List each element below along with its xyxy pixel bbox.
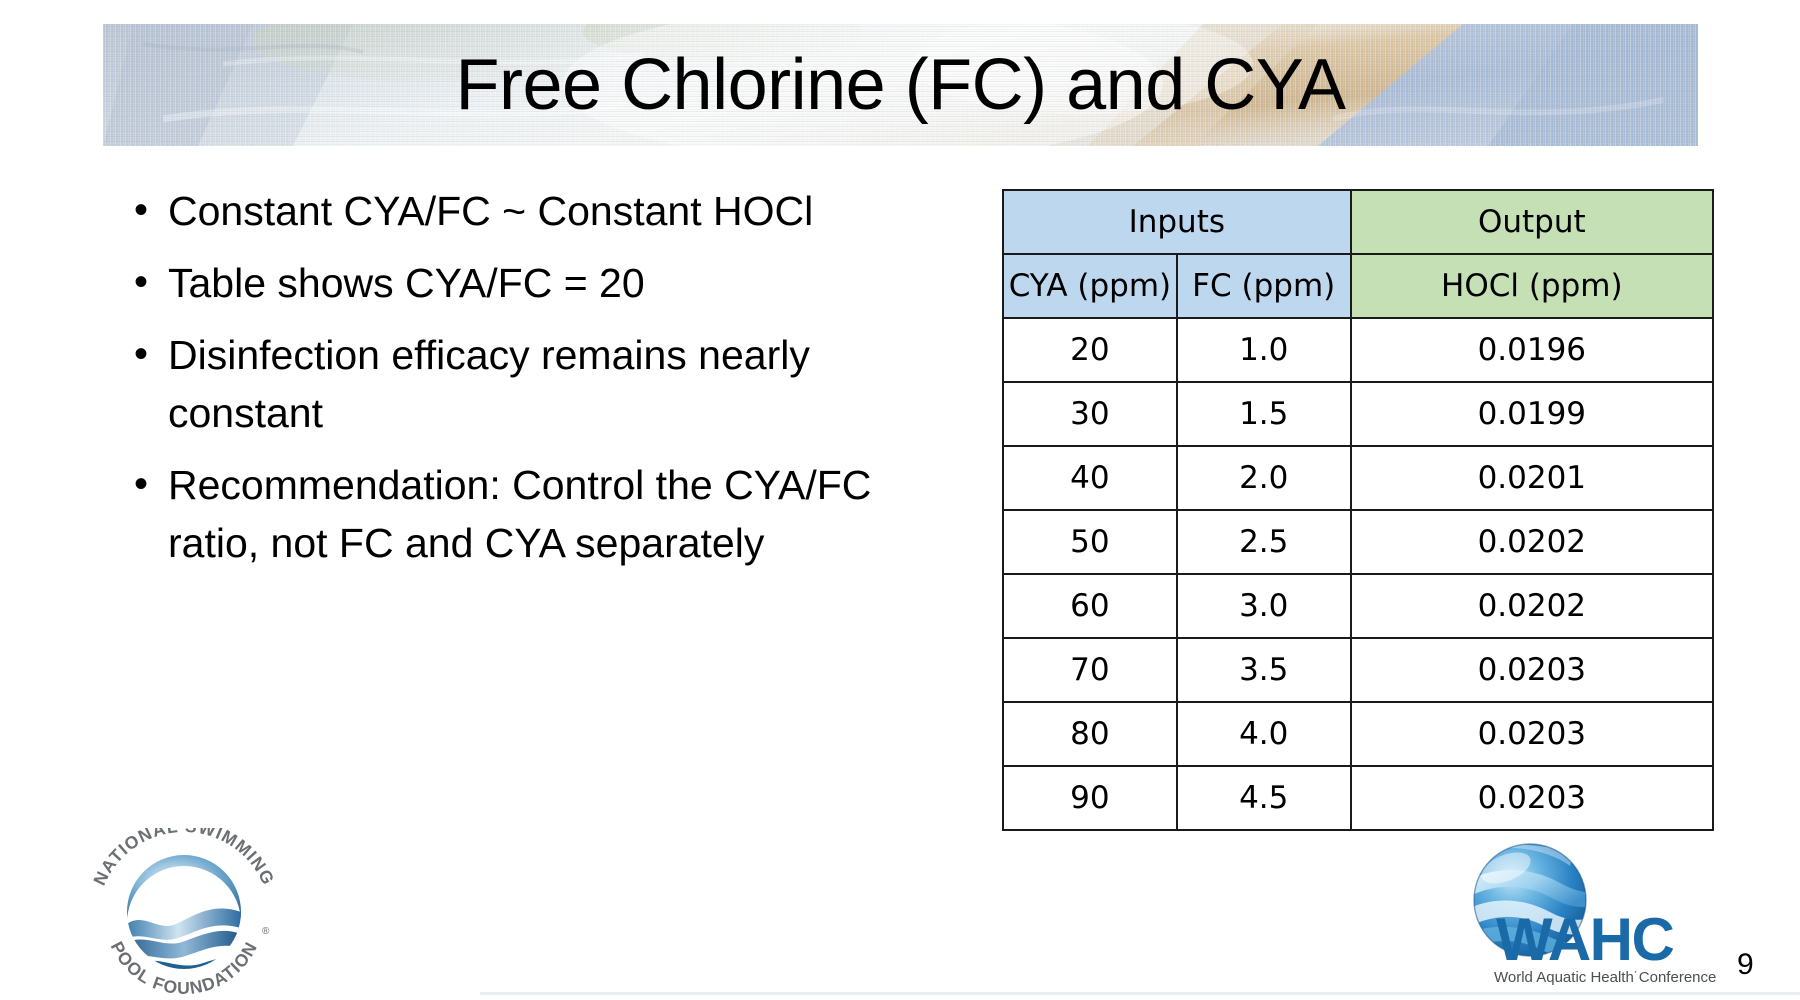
bullet-text: Table shows CYA/FC = 20: [168, 254, 920, 312]
bullet-point-icon: •: [130, 456, 168, 512]
nspf-registered-mark: ®: [262, 926, 270, 937]
cell-cya: 70: [1003, 638, 1177, 702]
slide-number: 9: [1737, 948, 1754, 982]
cya-fc-hocl-table: Inputs Output CYA (ppm) FC (ppm) HOCl (p…: [1002, 189, 1714, 831]
list-item: • Disinfection efficacy remains nearly c…: [130, 326, 920, 442]
cell-fc: 4.0: [1177, 702, 1351, 766]
cell-hocl: 0.0202: [1351, 574, 1713, 638]
bullet-point-icon: •: [130, 326, 168, 382]
cell-cya: 80: [1003, 702, 1177, 766]
list-item: • Table shows CYA/FC = 20: [130, 254, 920, 312]
list-item: • Constant CYA/FC ~ Constant HOCl: [130, 182, 920, 240]
nspf-globe-icon: [127, 855, 241, 983]
cell-hocl: 0.0203: [1351, 702, 1713, 766]
bullet-point-icon: •: [130, 182, 168, 238]
bullet-point-icon: •: [130, 254, 168, 310]
bullet-list: • Constant CYA/FC ~ Constant HOCl • Tabl…: [130, 182, 920, 586]
table-column-header-fc: FC (ppm): [1177, 254, 1351, 318]
table-row: 30 1.5 0.0199: [1003, 382, 1713, 446]
cell-hocl: 0.0196: [1351, 318, 1713, 382]
cell-cya: 90: [1003, 766, 1177, 830]
page-title: Free Chlorine (FC) and CYA: [103, 24, 1698, 146]
table-group-header-row: Inputs Output: [1003, 190, 1713, 254]
table-group-header-inputs: Inputs: [1003, 190, 1351, 254]
table-column-header-row: CYA (ppm) FC (ppm) HOCl (ppm): [1003, 254, 1713, 318]
bullet-text: Constant CYA/FC ~ Constant HOCl: [168, 182, 920, 240]
footer-divider: [480, 992, 1800, 995]
table-row: 40 2.0 0.0201: [1003, 446, 1713, 510]
title-banner: Free Chlorine (FC) and CYA: [103, 24, 1698, 146]
list-item: • Recommendation: Control the CYA/FC rat…: [130, 456, 920, 572]
cell-fc: 3.5: [1177, 638, 1351, 702]
cell-cya: 50: [1003, 510, 1177, 574]
cell-fc: 2.0: [1177, 446, 1351, 510]
cell-hocl: 0.0203: [1351, 638, 1713, 702]
cell-hocl: 0.0199: [1351, 382, 1713, 446]
bullet-text: Disinfection efficacy remains nearly con…: [168, 326, 920, 442]
table-column-header-hocl: HOCl (ppm): [1351, 254, 1713, 318]
cell-cya: 20: [1003, 318, 1177, 382]
nspf-logo: NATIONAL SWIMMING POOL FOUNDATION ®: [82, 828, 287, 996]
cell-fc: 3.0: [1177, 574, 1351, 638]
table-row: 90 4.5 0.0203: [1003, 766, 1713, 830]
cell-hocl: 0.0202: [1351, 510, 1713, 574]
wahc-tagline: World Aquatic Health˙Conference: [1494, 969, 1716, 986]
table-row: 70 3.5 0.0203: [1003, 638, 1713, 702]
table-column-header-cya: CYA (ppm): [1003, 254, 1177, 318]
cell-hocl: 0.0201: [1351, 446, 1713, 510]
cell-fc: 1.0: [1177, 318, 1351, 382]
wahc-acronym: WAHC: [1496, 906, 1673, 973]
table-group-header-output: Output: [1351, 190, 1713, 254]
cell-fc: 1.5: [1177, 382, 1351, 446]
table-row: 60 3.0 0.0202: [1003, 574, 1713, 638]
cell-hocl: 0.0203: [1351, 766, 1713, 830]
cell-fc: 4.5: [1177, 766, 1351, 830]
table-row: 50 2.5 0.0202: [1003, 510, 1713, 574]
table-row: 20 1.0 0.0196: [1003, 318, 1713, 382]
cell-cya: 40: [1003, 446, 1177, 510]
cell-cya: 60: [1003, 574, 1177, 638]
slide-canvas: Free Chlorine (FC) and CYA • Constant CY…: [0, 0, 1800, 1000]
table-row: 80 4.0 0.0203: [1003, 702, 1713, 766]
cell-cya: 30: [1003, 382, 1177, 446]
bullet-text: Recommendation: Control the CYA/FC ratio…: [168, 456, 920, 572]
cell-fc: 2.5: [1177, 510, 1351, 574]
wahc-logo: WAHC World Aquatic Health˙Conference: [1462, 838, 1720, 990]
